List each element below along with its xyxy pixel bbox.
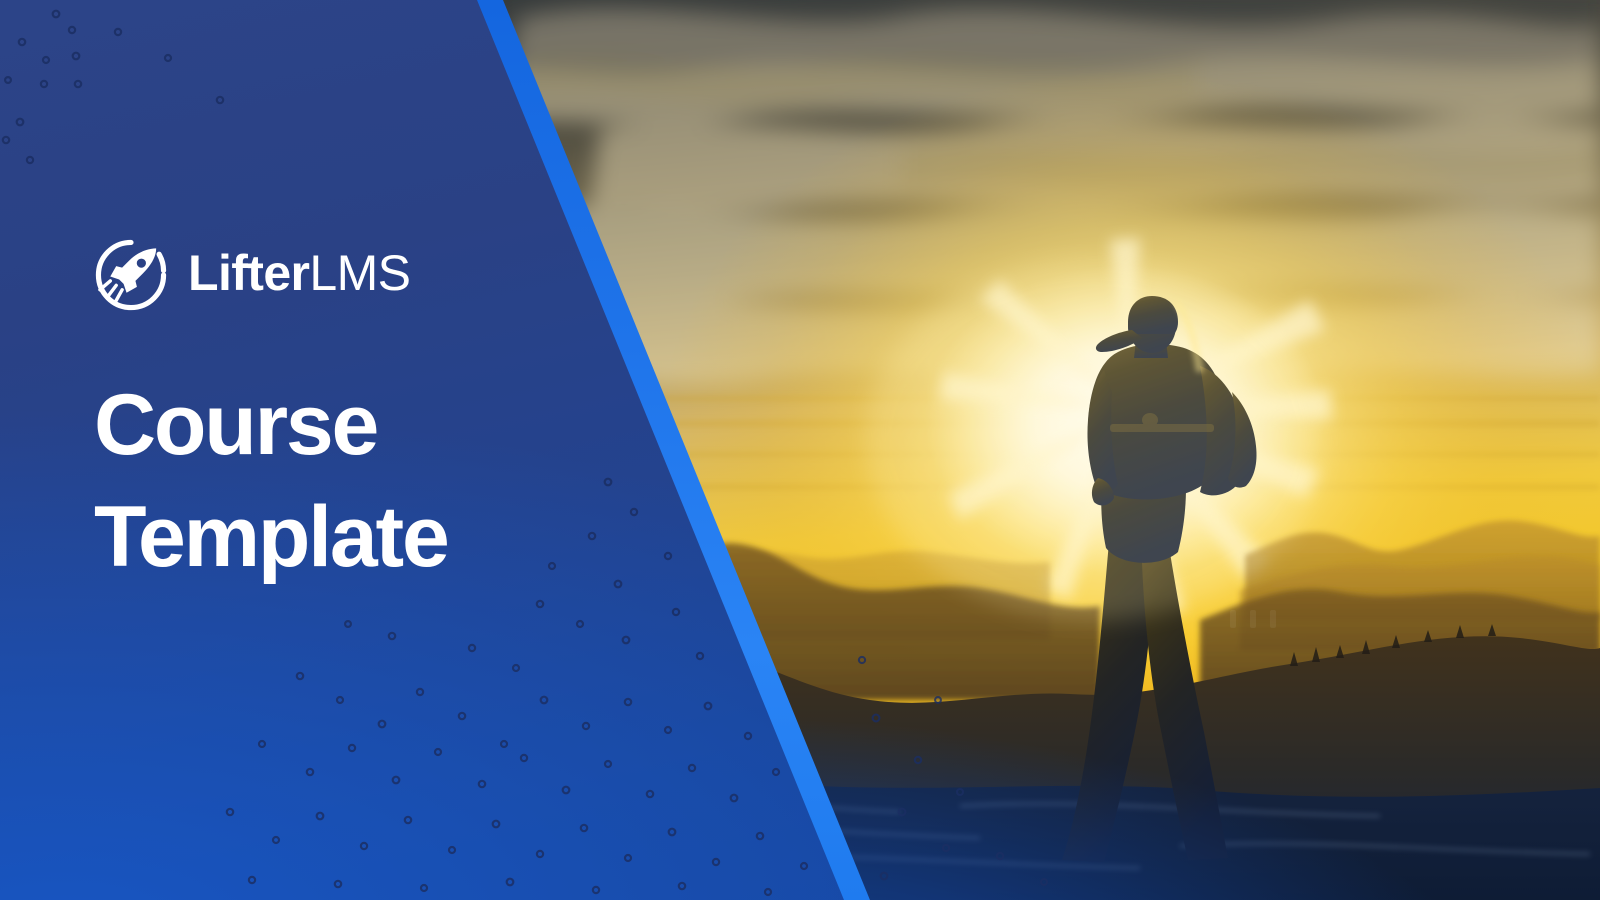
ring-dots-sparse (3, 11, 223, 163)
banner-content: LifterLMS Course Template (94, 232, 564, 594)
course-template-banner: LifterLMS Course Template (0, 0, 1600, 900)
page-title-line-1: Course (94, 370, 564, 482)
ring-dots-dense (227, 621, 827, 895)
logo-wordmark-bold: Lifter (188, 245, 309, 301)
logo-wordmark-light: LMS (309, 245, 410, 301)
page-title-line-2: Template (94, 482, 564, 594)
lens-haze (865, 260, 1325, 620)
logo-lockup: LifterLMS (94, 232, 564, 318)
page-title: Course Template (94, 370, 564, 594)
logo-wordmark: LifterLMS (188, 248, 410, 302)
rocket-in-circle-icon (94, 238, 168, 312)
